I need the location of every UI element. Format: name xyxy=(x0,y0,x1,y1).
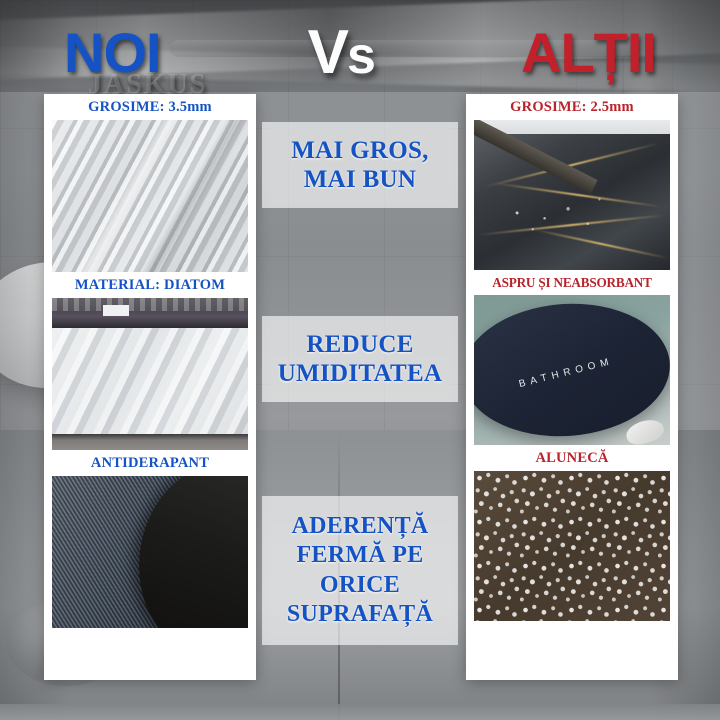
center-message-stack: MAI GROS, MAI BUN REDUCE UMIDITATEA ADER… xyxy=(262,94,458,704)
mat-word-label: BATHROOM xyxy=(518,356,615,390)
message-firm-grip: ADERENȚĂ FERMĂ PE ORICE SUPRAFAȚĂ xyxy=(262,496,458,645)
caption-ours-antislip: ANTIDERAPANT xyxy=(44,450,256,476)
brand-ours: NOI JASKUS xyxy=(64,25,161,81)
gold-flecks xyxy=(474,134,670,270)
message-line: FERMĂ PE xyxy=(266,541,454,570)
header-bar: NOI JASKUS Vs ALȚII xyxy=(0,14,720,92)
message-line: REDUCE xyxy=(268,330,452,359)
photo-ours-thickness xyxy=(52,120,248,272)
photo-ours-antislip xyxy=(52,476,248,628)
vs-badge-s: s xyxy=(347,27,374,85)
message-reduces-humidity: REDUCE UMIDITATEA xyxy=(262,316,458,402)
brand-theirs-label: ALȚII xyxy=(521,21,656,84)
caption-ours-material: MATERIAL: DIATOM xyxy=(44,272,256,298)
brown-speckled-texture-icon xyxy=(474,471,670,621)
marble-slab-texture-icon xyxy=(52,298,248,450)
column-ours: GROSIME: 3.5mm MATERIAL: DIATOM ANTIDERA… xyxy=(44,94,256,680)
message-line: MAI BUN xyxy=(268,165,452,194)
photo-ours-material xyxy=(52,298,248,450)
bottom-bar xyxy=(0,704,720,720)
message-line: SUPRAFAȚĂ xyxy=(266,600,454,629)
photo-theirs-thickness xyxy=(474,120,670,270)
message-line: ADERENȚĂ xyxy=(266,512,454,541)
caption-theirs-slippery: ALUNECĂ xyxy=(466,445,678,471)
black-gold-marble-texture-icon xyxy=(474,134,670,270)
gray-marble-texture-icon xyxy=(52,120,248,272)
slab-bottom-band xyxy=(52,434,248,450)
navy-mat-scene-icon: BATHROOM xyxy=(474,295,670,445)
brand-theirs: ALȚII xyxy=(521,25,656,81)
slipper-icon xyxy=(624,416,667,445)
message-line: UMIDITATEA xyxy=(268,359,452,388)
message-line: ORICE xyxy=(266,571,454,600)
photo-theirs-absorbency: BATHROOM xyxy=(474,295,670,445)
caption-theirs-thickness: GROSIME: 2.5mm xyxy=(466,94,678,120)
vs-badge-v: V xyxy=(308,18,347,87)
caption-theirs-absorbency: ASPRU ȘI NEABSORBANT xyxy=(466,270,678,295)
column-theirs: GROSIME: 2.5mm ASPRU ȘI NEABSORBANT BATH… xyxy=(466,94,678,680)
caption-ours-thickness: GROSIME: 3.5mm xyxy=(44,94,256,120)
vs-badge: Vs xyxy=(308,22,374,84)
comparison-infographic: NOI JASKUS Vs ALȚII GROSIME: 3.5mm MATER… xyxy=(0,0,720,720)
message-line: MAI GROS, xyxy=(268,136,452,165)
slab-top-band xyxy=(52,298,248,328)
message-thicker-better: MAI GROS, MAI BUN xyxy=(262,122,458,208)
photo-theirs-slippery xyxy=(474,471,670,621)
